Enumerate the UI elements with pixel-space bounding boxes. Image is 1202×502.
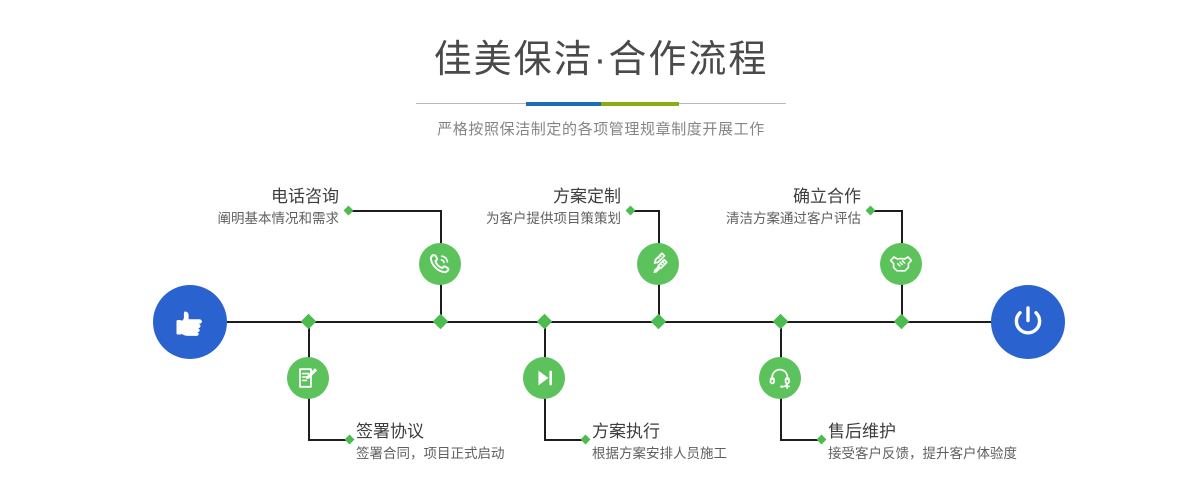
pointing-hand-icon	[170, 302, 210, 342]
flow-end-node	[991, 285, 1065, 359]
pencil-ruler-icon	[645, 251, 671, 277]
step-label-2: 签署协议 签署合同，项目正式启动	[356, 421, 616, 464]
page-header: 佳美保洁·合作流程 严格按照保洁制定的各项管理规章制度开展工作	[0, 0, 1202, 139]
page-subtitle: 严格按照保洁制定的各项管理规章制度开展工作	[0, 106, 1202, 139]
power-icon	[1007, 301, 1049, 343]
step-icon-plan-design	[637, 243, 679, 285]
step-label-4: 方案执行 根据方案安排人员施工	[592, 421, 852, 464]
step-label-3: 方案定制 为客户提供项目策策划	[381, 186, 621, 229]
divider-segment-blue	[526, 102, 601, 106]
connector-horizontal-step-2	[308, 439, 349, 441]
step-title-4: 方案执行	[592, 421, 852, 444]
phone-call-icon	[427, 251, 453, 277]
page-title: 佳美保洁·合作流程	[0, 0, 1202, 84]
step-title-1: 电话咨询	[99, 186, 339, 209]
divider-segment-green	[601, 102, 679, 106]
step-title-6: 确立合作	[621, 186, 861, 209]
axis-marker-step-3	[651, 314, 667, 330]
title-divider	[416, 102, 786, 106]
step-desc-1: 阐明基本情况和需求	[99, 209, 339, 229]
step-title-3: 方案定制	[381, 186, 621, 209]
step-icon-phone-call	[419, 243, 461, 285]
step-label-6: 确立合作 清洁方案通过客户评估	[621, 186, 861, 229]
document-pen-icon	[295, 365, 321, 391]
label-marker-step-1	[344, 205, 354, 215]
axis-marker-step-4	[537, 314, 553, 330]
step-icon-after-sales	[759, 357, 801, 399]
headset-support-icon	[767, 365, 793, 391]
play-skip-icon	[531, 365, 557, 391]
step-label-1: 电话咨询 阐明基本情况和需求	[99, 186, 339, 229]
handshake-icon	[888, 251, 914, 277]
process-flow-diagram: 电话咨询 阐明基本情况和需求 签署协议 签署合同，项目正式启动	[0, 150, 1202, 502]
step-icon-sign-document	[287, 357, 329, 399]
label-marker-step-6	[866, 205, 876, 215]
step-desc-3: 为客户提供项目策策划	[381, 209, 621, 229]
step-title-5: 售后维护	[828, 421, 1118, 444]
axis-marker-step-6	[894, 314, 910, 330]
axis-marker-step-5	[773, 314, 789, 330]
step-desc-6: 清洁方案通过客户评估	[621, 209, 861, 229]
step-desc-2: 签署合同，项目正式启动	[356, 444, 616, 464]
step-desc-4: 根据方案安排人员施工	[592, 444, 852, 464]
step-title-2: 签署协议	[356, 421, 616, 444]
step-icon-partnership	[880, 243, 922, 285]
axis-marker-step-1	[433, 314, 449, 330]
label-marker-step-2	[345, 435, 355, 445]
step-desc-5: 接受客户反馈，提升客户体验度	[828, 444, 1118, 464]
step-label-5: 售后维护 接受客户反馈，提升客户体验度	[828, 421, 1118, 464]
infographic-page: 佳美保洁·合作流程 严格按照保洁制定的各项管理规章制度开展工作	[0, 0, 1202, 502]
step-icon-execute-plan	[523, 357, 565, 399]
axis-marker-step-2	[301, 314, 317, 330]
flow-start-node	[153, 285, 227, 359]
